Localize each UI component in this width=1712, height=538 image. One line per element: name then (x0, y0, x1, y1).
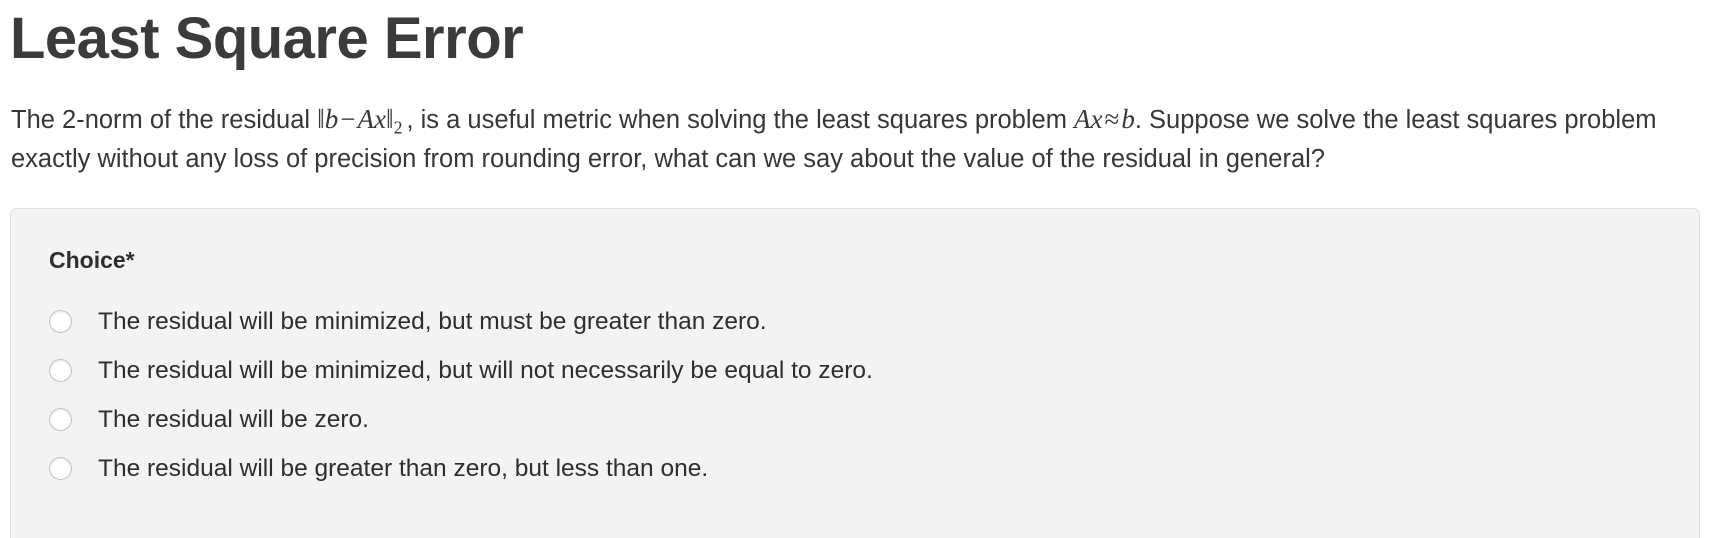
choice-label: Choice* (49, 247, 135, 274)
math2-matrix-a: A (1074, 104, 1091, 134)
math-residual-norm: ‖b−Ax‖2 (317, 104, 402, 134)
option-row-4[interactable]: The residual will be greater than zero, … (49, 444, 1679, 493)
math-ax-approx-b: Ax≈b (1074, 104, 1135, 134)
radio-button-option-3[interactable] (49, 408, 72, 431)
math2-var-b: b (1121, 104, 1135, 134)
math-var-b: b (325, 104, 339, 134)
math-var-x: x (374, 104, 386, 134)
question-text-middle: , is a useful metric when solving the le… (406, 106, 1074, 134)
math-approx-operator: ≈ (1103, 104, 1122, 134)
radio-button-option-1[interactable] (49, 310, 72, 333)
math-subscript-2: 2 (394, 117, 403, 137)
question-prompt: The 2-norm of the residual ‖b−Ax‖2, is a… (11, 100, 1701, 179)
math-matrix-a: A (357, 104, 374, 134)
choice-options-list: The residual will be minimized, but must… (49, 297, 1679, 493)
option-label-2: The residual will be minimized, but will… (98, 356, 873, 386)
radio-button-option-2[interactable] (49, 359, 72, 382)
question-text-before-math: The 2-norm of the residual (11, 106, 317, 134)
math2-var-x: x (1091, 104, 1103, 134)
radio-button-option-4[interactable] (49, 457, 72, 480)
math-minus-operator: − (338, 104, 357, 134)
question-page: Least Square Error The 2-norm of the res… (0, 0, 1712, 532)
page-title: Least Square Error (10, 4, 523, 74)
option-label-1: The residual will be minimized, but must… (98, 307, 767, 337)
option-row-2[interactable]: The residual will be minimized, but will… (49, 346, 1679, 395)
norm-bar-open: ‖ (317, 104, 325, 134)
option-label-4: The residual will be greater than zero, … (98, 454, 708, 484)
choice-card: Choice* The residual will be minimized, … (10, 208, 1700, 538)
option-row-1[interactable]: The residual will be minimized, but must… (49, 297, 1679, 346)
option-label-3: The residual will be zero. (98, 405, 369, 435)
norm-bar-close: ‖ (386, 104, 394, 134)
option-row-3[interactable]: The residual will be zero. (49, 395, 1679, 444)
